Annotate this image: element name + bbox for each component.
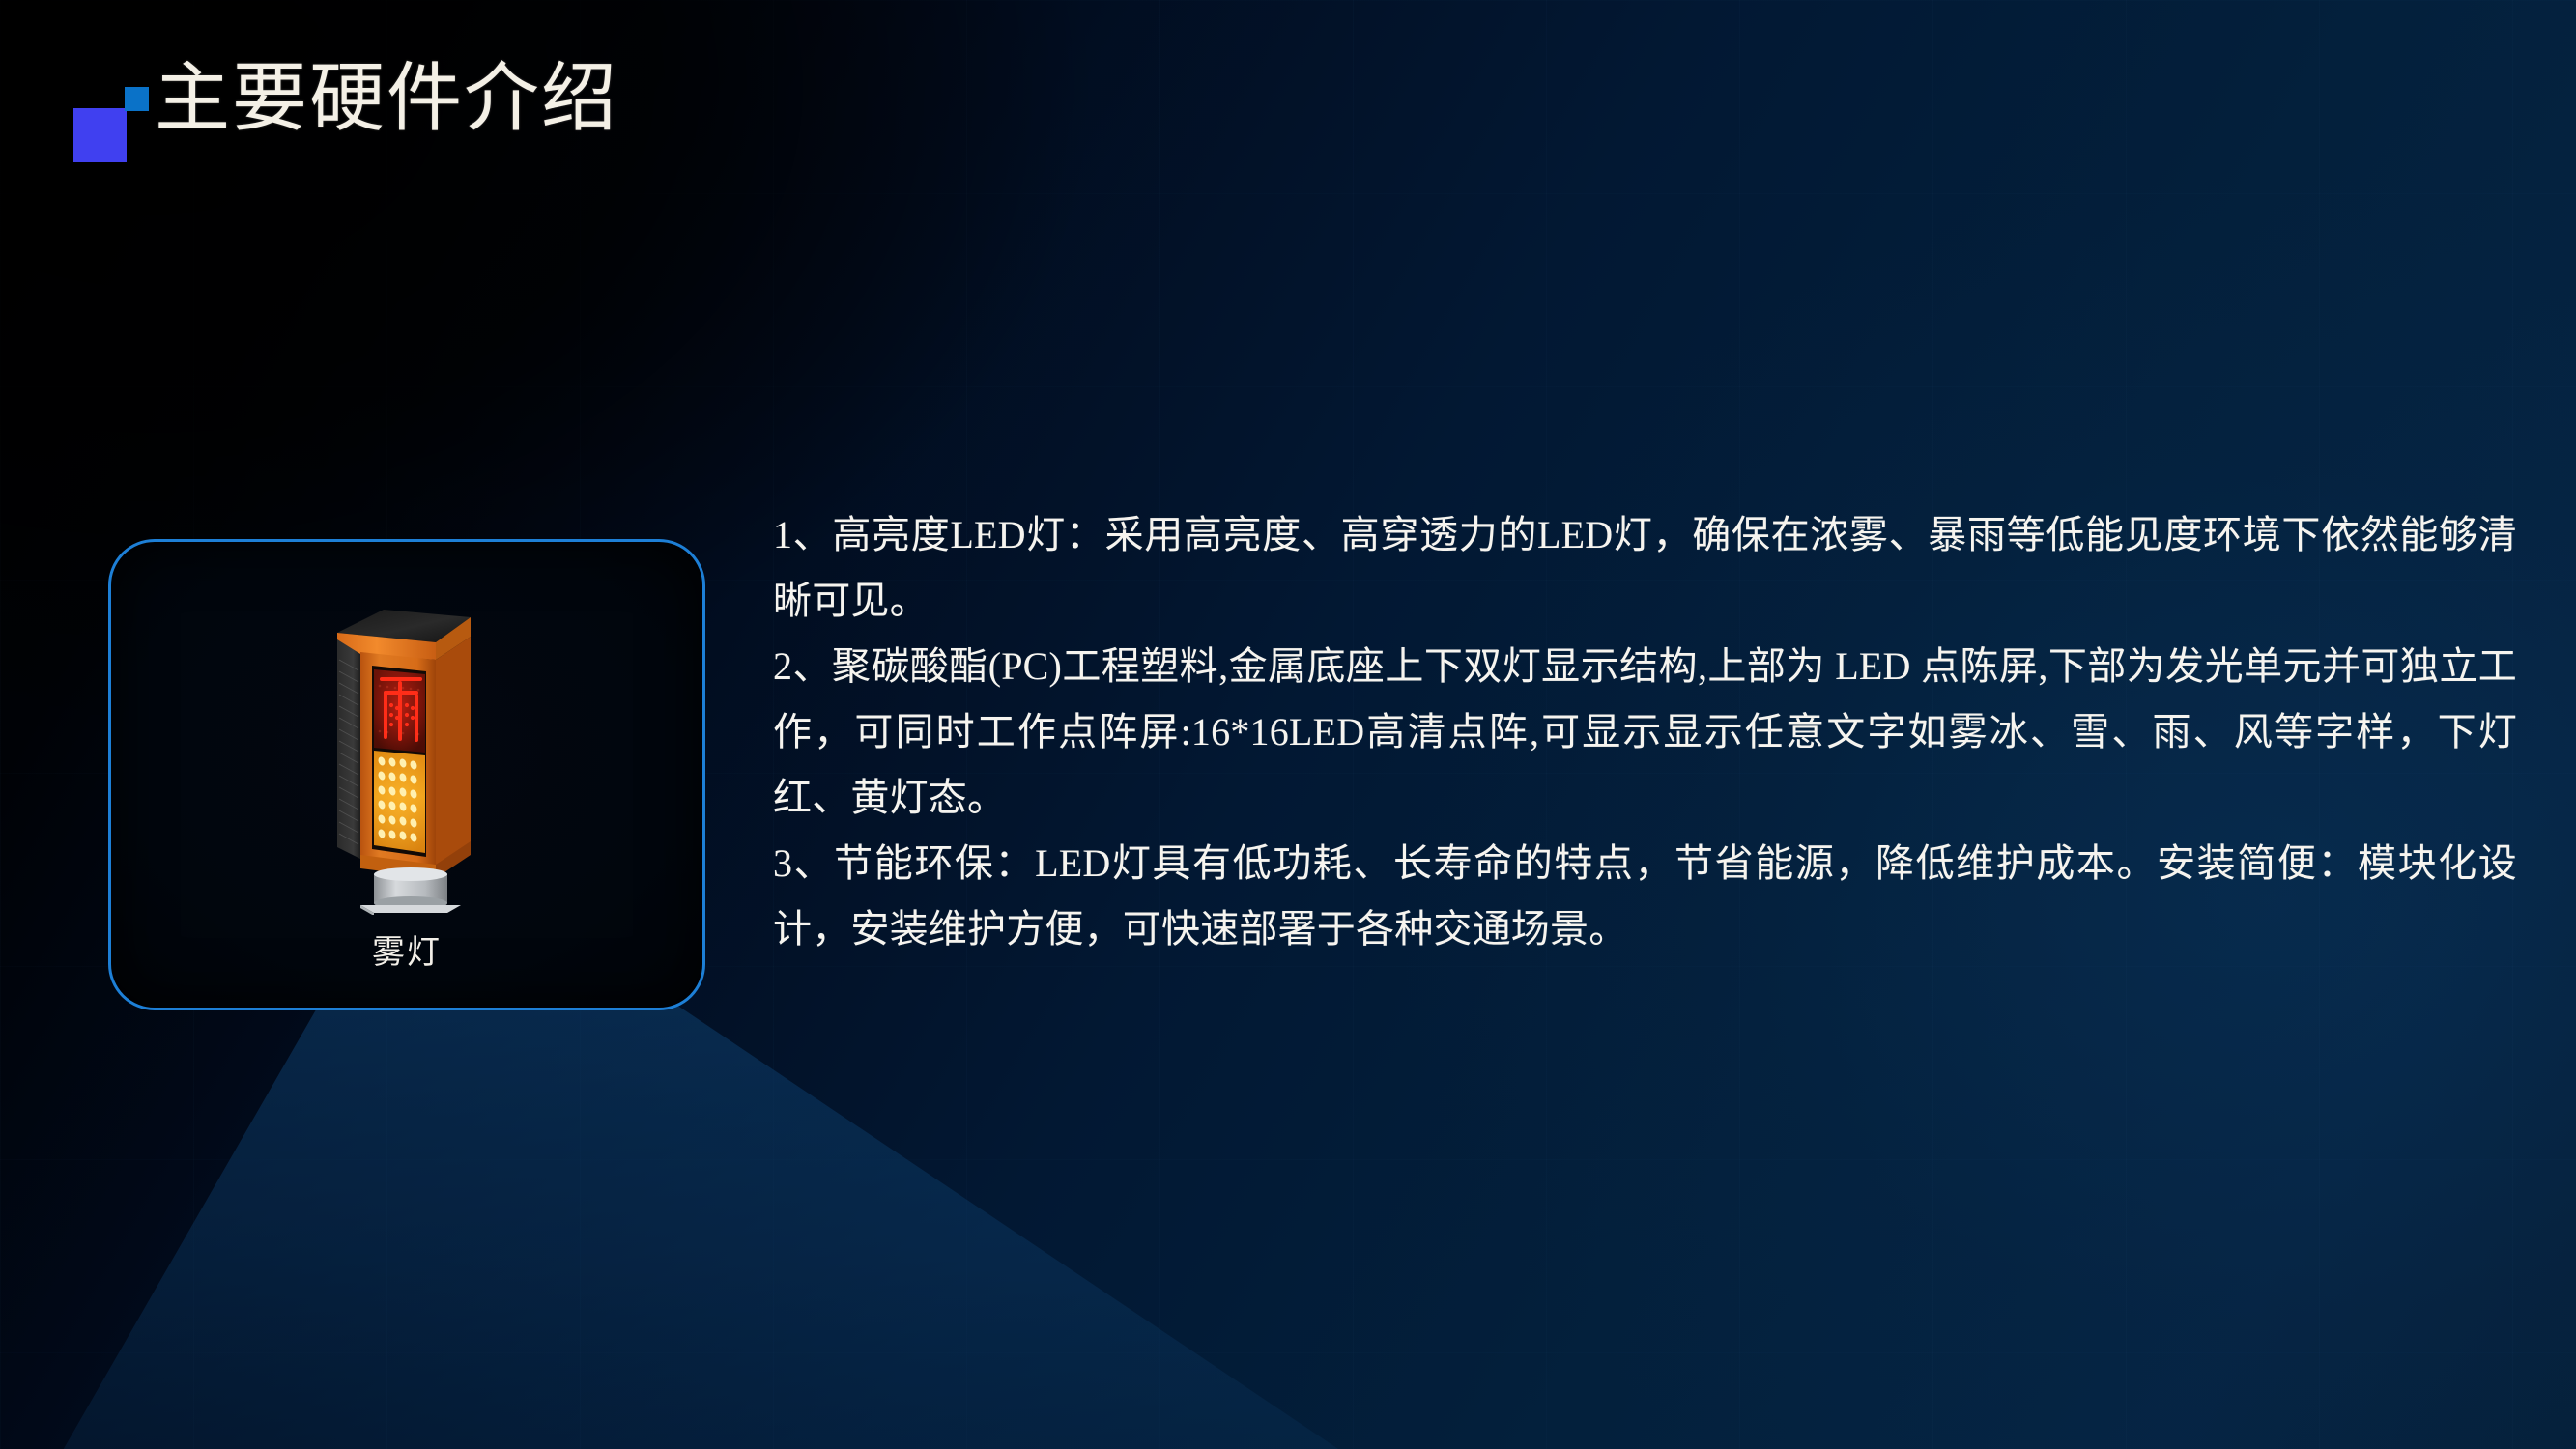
body-copy: 1、高亮度LED灯：采用高亮度、高穿透力的LED灯，确保在浓雾、暴雨等低能见度环… bbox=[773, 502, 2517, 962]
bullet-square-small bbox=[125, 87, 149, 111]
bullet-square-large bbox=[73, 108, 127, 162]
paragraph-2: 2、聚碳酸酯(PC)工程塑料,金属底座上下双灯显示结构,上部为 LED 点陈屏,… bbox=[773, 634, 2517, 831]
page-title: 主要硬件介绍 bbox=[155, 60, 618, 137]
paragraph-3: 3、节能环保：LED灯具有低功耗、长寿命的特点，节省能源，降低维护成本。安装简便… bbox=[773, 831, 2517, 962]
fog-lamp-device bbox=[291, 596, 523, 915]
card-caption: 雾灯 bbox=[111, 925, 702, 973]
page-title-row: 主要硬件介绍 bbox=[68, 60, 618, 158]
paragraph-1: 1、高亮度LED灯：采用高亮度、高穿透力的LED灯，确保在浓雾、暴雨等低能见度环… bbox=[773, 502, 2517, 634]
product-image-card: 雾灯 bbox=[108, 539, 705, 1010]
slide-root: 主要硬件介绍 bbox=[0, 0, 2576, 1449]
double-square-bullet-icon bbox=[68, 81, 155, 158]
